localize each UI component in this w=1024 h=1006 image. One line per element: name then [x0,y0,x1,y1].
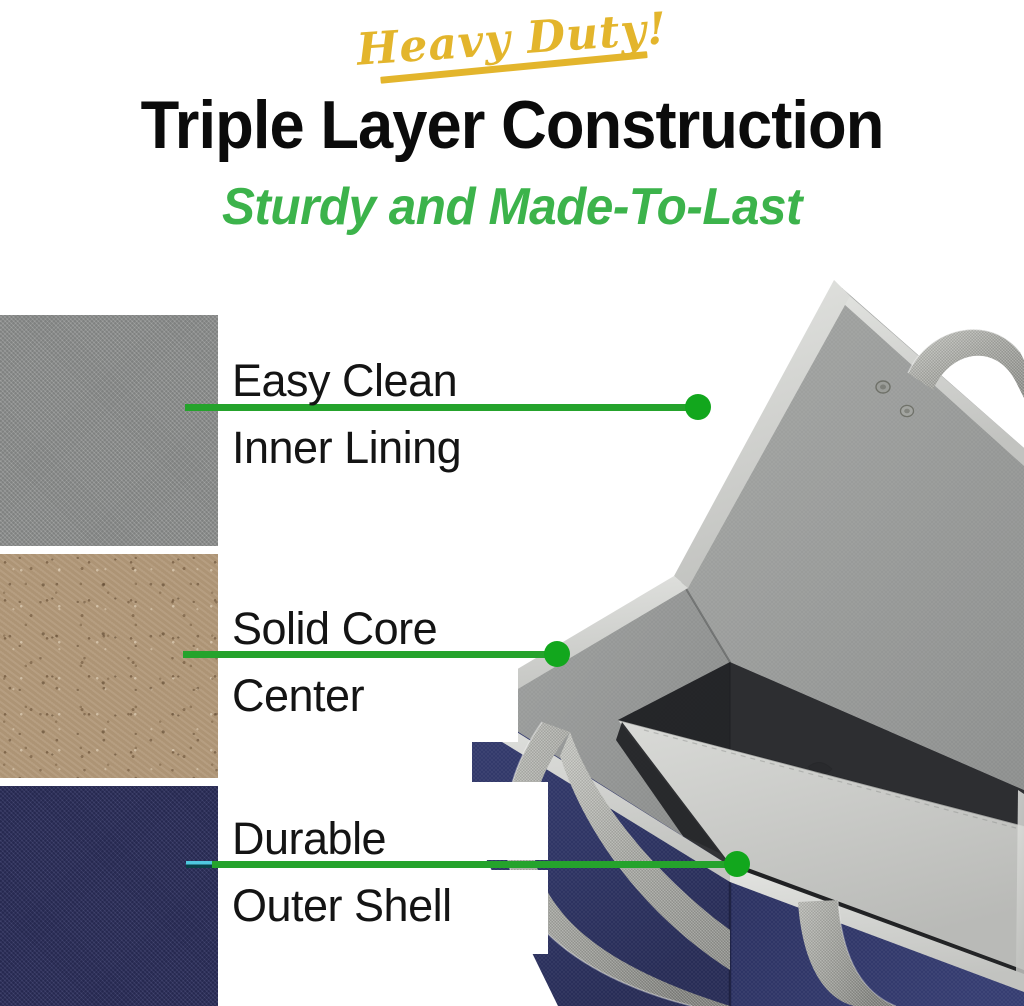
callout-dot-inner-lining [685,394,711,420]
cork-core-swatch [0,554,218,778]
heavy-duty-badge: Heavy Duty! [0,0,1024,101]
callout-outer-shell-line2: Outer Shell [232,877,452,934]
gray-woven-lining-swatch [0,315,218,546]
product-feature-infographic: Heavy Duty! Triple Layer Construction St… [0,0,1024,1006]
callout-outer-shell: Durable Outer Shell [232,810,452,934]
callout-solid-core: Solid Core Center [232,600,437,724]
callout-dot-outer-shell [724,851,750,877]
callout-inner-lining-line1: Easy Clean [232,352,461,409]
callout-solid-core-line2: Center [232,667,437,724]
callout-dot-solid-core [544,641,570,667]
callout-inner-lining: Easy Clean Inner Lining [232,352,461,476]
leader-line-outer-shell-cap [186,861,212,868]
callout-solid-core-line1: Solid Core [232,600,437,657]
callout-outer-shell-line1: Durable [232,810,452,867]
navy-canvas-swatch [0,786,218,1006]
callout-inner-lining-line2: Inner Lining [232,419,461,476]
page-subtitle: Sturdy and Made-To-Last [26,178,999,236]
page-title: Triple Layer Construction [36,88,988,162]
